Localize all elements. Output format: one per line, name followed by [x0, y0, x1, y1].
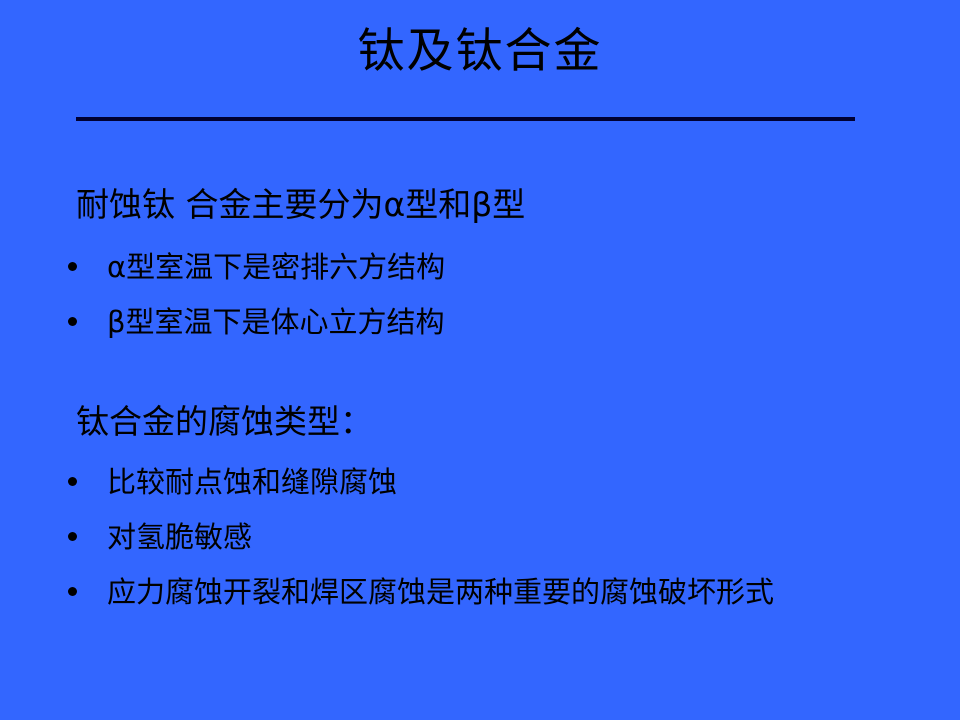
list-item: 比较耐点蚀和缝隙腐蚀 [68, 466, 397, 499]
list-item-label: 比较耐点蚀和缝隙腐蚀 [107, 466, 397, 499]
title-divider [76, 117, 855, 121]
page-title: 钛及钛合金 [0, 26, 960, 78]
list-item: 对氢脆敏感 [68, 521, 252, 554]
section-heading-corrosion-types: 钛合金的腐蚀类型： [76, 403, 373, 441]
list-item: β型室温下是体心立方结构 [68, 306, 445, 339]
list-item-label: β型室温下是体心立方结构 [107, 306, 445, 339]
bullet-dot-icon [68, 477, 77, 486]
list-item: α型室温下是密排六方结构 [68, 251, 445, 284]
list-item-label: 应力腐蚀开裂和焊区腐蚀是两种重要的腐蚀破坏形式 [107, 576, 774, 609]
list-item-label: α型室温下是密排六方结构 [107, 251, 445, 284]
presentation-slide: 钛及钛合金 耐蚀钛 合金主要分为α型和β型 α型室温下是密排六方结构 β型室温下… [0, 0, 960, 720]
bullet-dot-icon [68, 317, 77, 326]
list-item: 应力腐蚀开裂和焊区腐蚀是两种重要的腐蚀破坏形式 [68, 576, 774, 609]
bullet-dot-icon [68, 532, 77, 541]
list-item-label: 对氢脆敏感 [107, 521, 252, 554]
section-heading-alloy-types: 耐蚀钛 合金主要分为α型和β型 [76, 186, 525, 224]
bullet-dot-icon [68, 262, 77, 271]
bullet-dot-icon [68, 587, 77, 596]
